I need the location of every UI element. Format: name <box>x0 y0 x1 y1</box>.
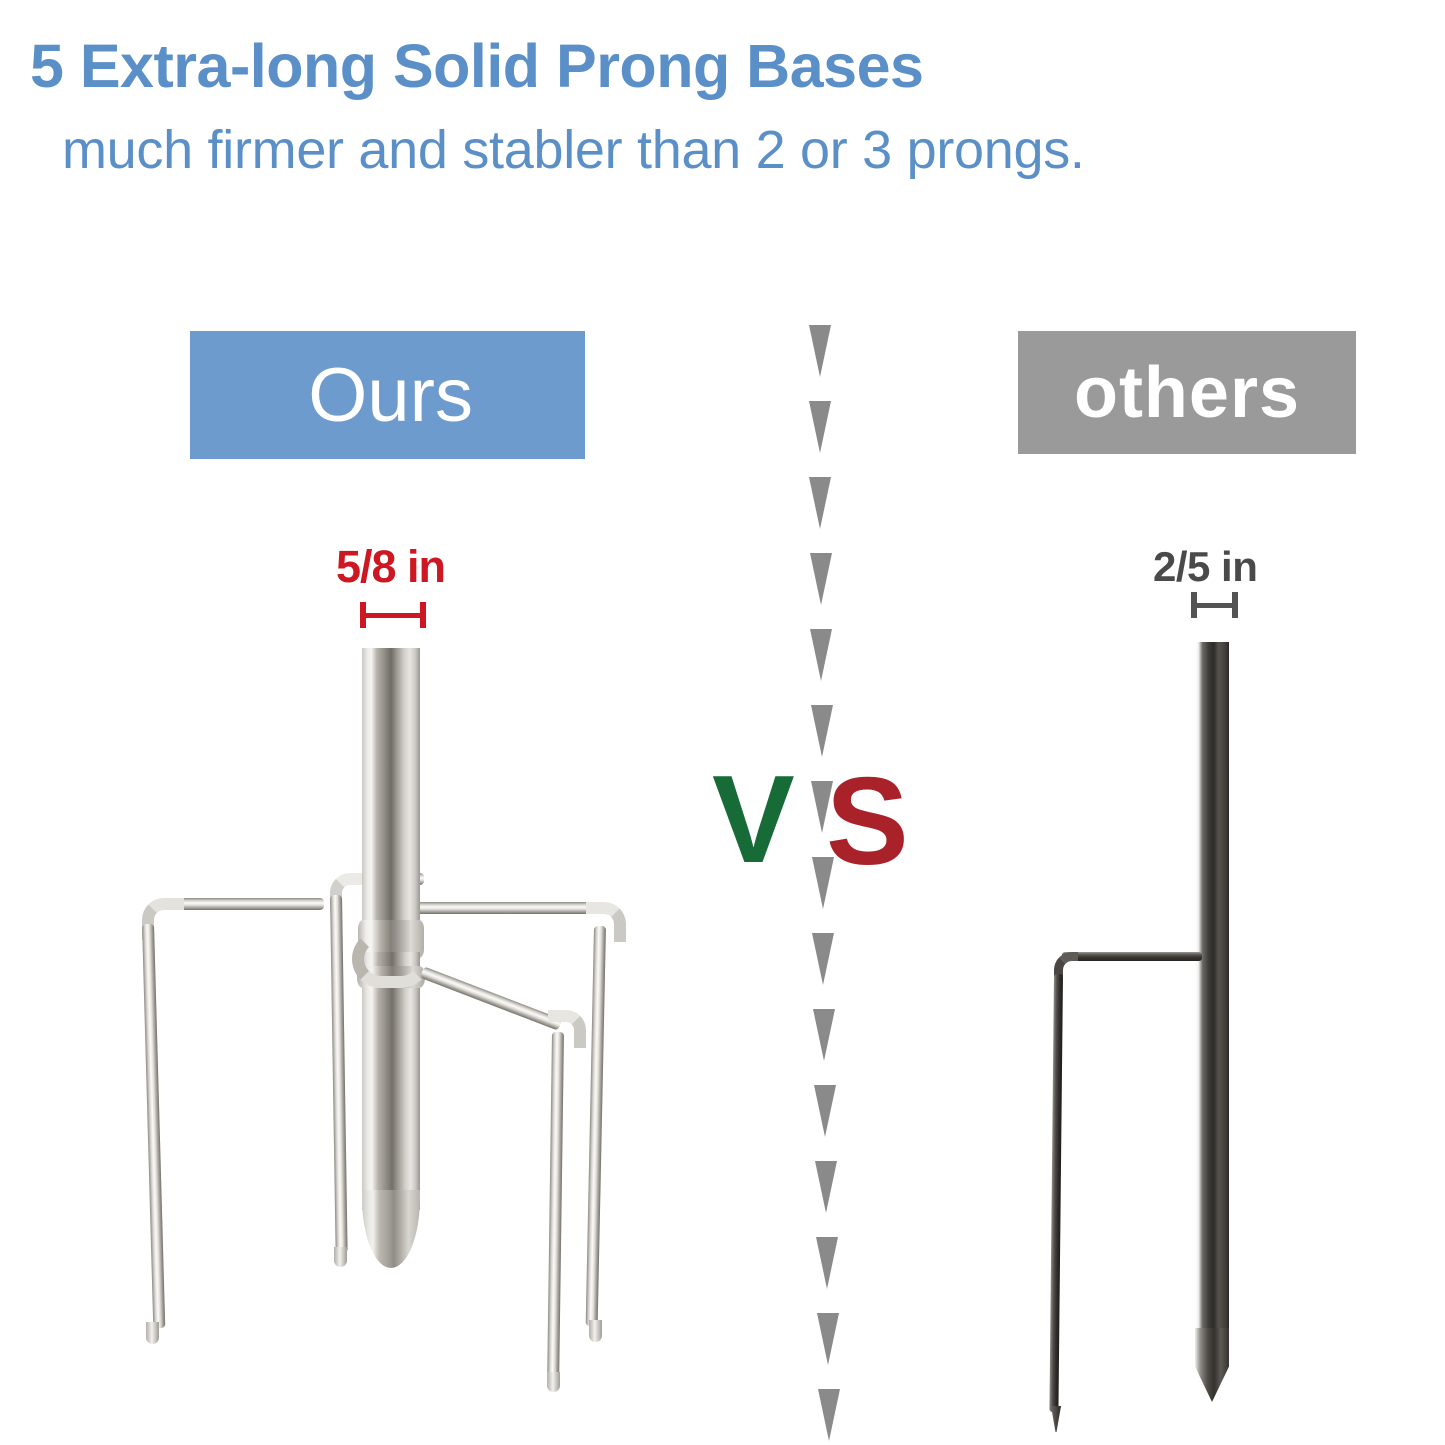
prong-wire-tip <box>334 1247 347 1267</box>
dimension-stem <box>1191 603 1238 608</box>
prong-wire-diagonal <box>420 966 562 1030</box>
dimension-bar-ours <box>360 602 426 628</box>
divider-dash <box>814 1085 836 1137</box>
divider-dash <box>809 401 831 453</box>
divider-dash <box>809 325 831 377</box>
thin-prong-leg <box>1049 974 1063 1412</box>
divider-dash <box>810 553 832 605</box>
badge-ours-label: Ours <box>308 352 473 439</box>
dimension-label-ours: 5/8 in <box>336 541 445 593</box>
divider-dash <box>817 1313 839 1365</box>
prong-wire-tip <box>547 1372 560 1392</box>
prong-wire-leg <box>547 1032 564 1378</box>
divider-dash <box>810 629 832 681</box>
versus-marker: V S <box>706 758 966 898</box>
page-subtitle: much firmer and stabler than 2 or 3 pron… <box>0 123 1445 177</box>
versus-letter-v: V <box>712 758 795 882</box>
dimension-bar-others <box>1191 592 1238 618</box>
prong-wire-tip <box>589 1320 602 1342</box>
divider-dash <box>815 1161 837 1213</box>
thin-stake-rod-tip <box>1195 1328 1229 1402</box>
divider-dash <box>816 1237 838 1289</box>
thin-prong-horizontal <box>1062 952 1202 961</box>
versus-letter-s: S <box>826 760 909 884</box>
dimension-cap-right <box>420 602 426 628</box>
page-title: 5 Extra-long Solid Prong Bases <box>0 36 1445 97</box>
thin-prong-tip <box>1051 1406 1061 1432</box>
prong-wire-leg <box>142 924 165 1328</box>
divider-dash <box>811 705 833 757</box>
dimension-stem <box>360 613 426 618</box>
thin-stake-rod <box>1195 642 1229 1332</box>
divider-dash <box>809 477 831 529</box>
dimension-label-others: 2/5 in <box>1153 543 1257 591</box>
stake-pole-upper <box>362 648 420 930</box>
prong-wire-horizontal <box>416 902 598 914</box>
prong-wire-tip <box>146 1322 159 1344</box>
thin-prong-corner <box>1054 952 1078 976</box>
badge-others: others <box>1018 331 1356 454</box>
badge-ours: Ours <box>190 331 585 459</box>
prong-wire-horizontal <box>168 898 324 910</box>
prong-wire-clamp <box>352 930 430 988</box>
product-image-others <box>1030 630 1330 1430</box>
product-image-ours <box>100 630 720 1390</box>
prong-wire-corner <box>586 902 626 942</box>
badge-others-label: others <box>1074 352 1300 434</box>
divider-dash <box>812 933 834 985</box>
headline-block: 5 Extra-long Solid Prong Bases much firm… <box>0 36 1445 177</box>
prong-wire-leg <box>330 895 348 1253</box>
divider-dash <box>813 1009 835 1061</box>
stake-pole-lower <box>362 952 420 1210</box>
dimension-cap-right <box>1232 592 1238 618</box>
stake-pole-tip <box>362 1190 420 1268</box>
divider-dash <box>818 1389 840 1441</box>
prong-wire-leg <box>586 926 606 1326</box>
